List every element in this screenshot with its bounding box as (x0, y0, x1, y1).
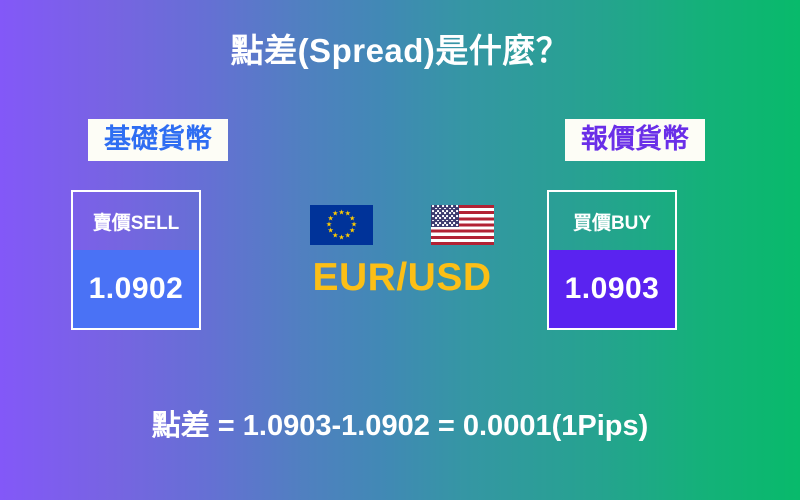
spread-infographic: 點差(Spread)是什麼？ 基礎貨幣 報價貨幣 賣價SELL 1.0902 買… (0, 0, 800, 500)
us-flag-star-icon (432, 224, 434, 226)
base-currency-tag: 基礎貨幣 (88, 119, 228, 161)
us-flag-star-icon (442, 224, 444, 226)
us-flag-star-icon (456, 210, 458, 212)
eu-flag-star-icon: ★ (332, 211, 338, 218)
us-flag-star-icon (456, 205, 458, 207)
us-flag-star-icon (451, 224, 453, 226)
buy-price-label: 買價BUY (549, 192, 675, 250)
currency-pair-label: EUR/USD (282, 256, 522, 300)
spread-formula: 點差 = 1.0903-1.0902 = 0.0001(1Pips) (0, 402, 800, 444)
eu-flag-star-icon: ★ (326, 222, 332, 229)
eu-flag-icon: ★★★★★★★★★★★★ (310, 205, 373, 245)
us-flag-star-icon (456, 215, 458, 217)
buy-price-value: 1.0903 (549, 250, 675, 328)
buy-price-card: 買價BUY 1.0903 (547, 190, 677, 330)
us-flag-star-icon (456, 224, 458, 226)
us-flag-star-icon (446, 224, 448, 226)
page-title: 點差(Spread)是什麼？ (0, 24, 800, 72)
us-flag-canton (431, 205, 459, 227)
flag-row: ★★★★★★★★★★★★ (282, 205, 522, 245)
quote-currency-tag: 報價貨幣 (565, 119, 705, 161)
currency-pair-block: ★★★★★★★★★★★★ EUR/USD (282, 205, 522, 300)
us-flag-star-icon (456, 220, 458, 222)
eu-flag-star-icon: ★ (338, 234, 344, 241)
eu-flag-star-icon: ★ (345, 232, 351, 239)
eu-flag-star-icon: ★ (328, 228, 334, 235)
us-flag-icon (431, 205, 494, 245)
sell-price-card: 賣價SELL 1.0902 (71, 190, 201, 330)
sell-price-label: 賣價SELL (73, 192, 199, 250)
sell-price-value: 1.0902 (73, 250, 199, 328)
us-flag-star-icon (437, 224, 439, 226)
